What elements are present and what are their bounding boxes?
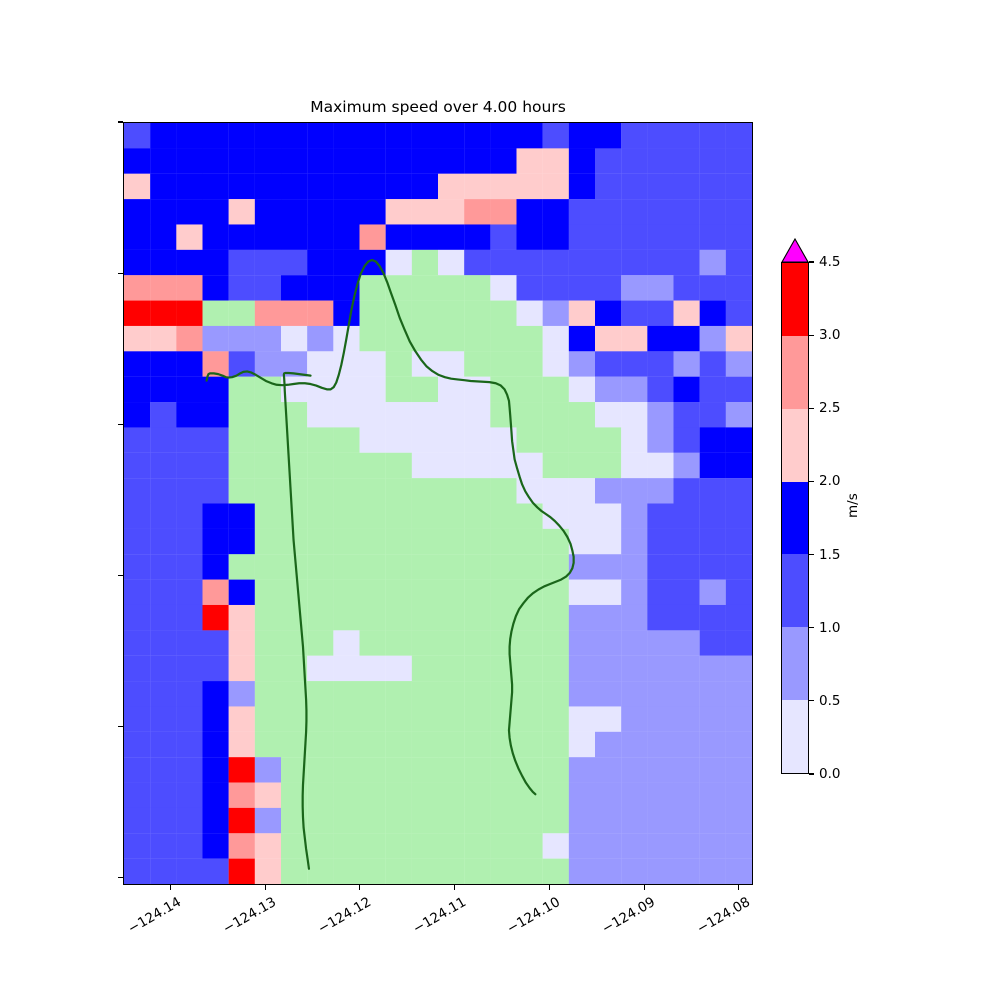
colorbar-band <box>782 554 808 627</box>
colorbar-band <box>782 627 808 700</box>
colorbar-gradient <box>781 262 809 774</box>
y-tick-mark <box>118 575 123 576</box>
colorbar-tick-label: 4.5 <box>819 254 840 270</box>
colorbar-label: m/s <box>845 493 861 518</box>
y-tick-mark <box>118 121 123 122</box>
x-tick-mark <box>170 885 171 890</box>
colorbar-tick-mark <box>809 700 814 701</box>
shoreline-polyline <box>284 373 311 869</box>
colorbar-tick-mark <box>809 408 814 409</box>
colorbar-band <box>782 263 808 336</box>
y-tick-mark <box>118 877 123 878</box>
x-tick-label: −124.08 <box>694 894 753 937</box>
colorbar-tick-label: 1.0 <box>819 620 840 636</box>
x-tick-mark <box>454 885 455 890</box>
x-tick-mark <box>644 885 645 890</box>
colorbar-tick-label: 0.0 <box>819 766 840 782</box>
x-tick-label: −124.10 <box>505 894 564 937</box>
y-tick-mark <box>118 424 123 425</box>
x-tick-mark <box>265 885 266 890</box>
colorbar-tick-mark <box>809 554 814 555</box>
colorbar-band <box>782 336 808 409</box>
x-tick-mark <box>359 885 360 890</box>
shoreline-contour <box>124 123 752 884</box>
colorbar-band <box>782 409 808 482</box>
colorbar-tick-mark <box>809 335 814 336</box>
matplotlib-figure: Maximum speed over 4.00 hours 46.8746.88… <box>0 0 1000 1000</box>
colorbar-band <box>782 482 808 555</box>
x-tick-mark <box>549 885 550 890</box>
colorbar-tick-label: 0.5 <box>819 693 840 709</box>
colorbar-tick-mark <box>809 627 814 628</box>
colorbar-over-arrow <box>781 238 809 262</box>
x-tick-label: −124.13 <box>220 894 279 937</box>
x-tick-label: −124.14 <box>126 894 185 937</box>
x-tick-label: −124.12 <box>315 894 374 937</box>
colorbar-band <box>782 700 808 773</box>
y-tick-mark <box>118 726 123 727</box>
x-tick-label: −124.11 <box>410 894 469 937</box>
colorbar-tick-mark <box>809 481 814 482</box>
colorbar-tick-label: 3.0 <box>819 327 840 343</box>
x-tick-label: −124.09 <box>599 894 658 937</box>
y-tick-mark <box>118 273 123 274</box>
colorbar-tick-mark <box>809 261 814 262</box>
colorbar-tick-mark <box>809 773 814 774</box>
colorbar-tick-label: 2.5 <box>819 400 840 416</box>
shoreline-polyline <box>207 260 574 794</box>
x-tick-mark <box>738 885 739 890</box>
colorbar[interactable] <box>781 262 809 774</box>
colorbar-tick-label: 1.5 <box>819 547 840 563</box>
colorbar-tick-label: 2.0 <box>819 473 840 489</box>
plot-title: Maximum speed over 4.00 hours <box>123 98 753 116</box>
map-axes <box>123 122 753 885</box>
